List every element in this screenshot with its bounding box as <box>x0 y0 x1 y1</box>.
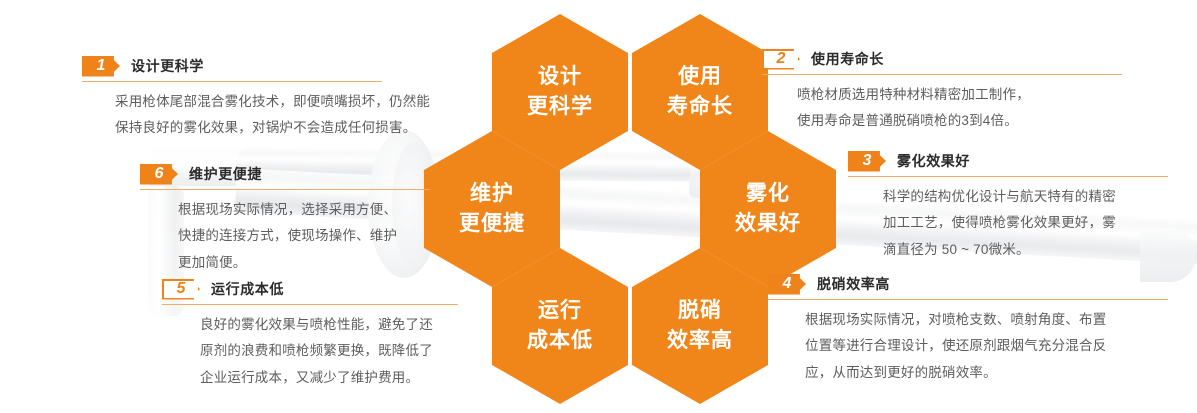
hexagon-lifespan-line1: 使用 <box>678 62 722 92</box>
feature-2-header: 2 使用寿命长 <box>762 48 1122 70</box>
feature-6-divider <box>140 189 430 190</box>
infographic-stage: 设计 更科学 使用 寿命长 维护 更便捷 雾化 效果好 运行 成本低 脱硝 效率… <box>0 0 1197 413</box>
feature-6-body: 根据现场实际情况，选择采用方便、 快捷的连接方式，使现场操作、维护 更加简便。 <box>140 197 430 276</box>
feature-5-line-3: 企业运行成本，又减少了维护费用。 <box>200 365 462 391</box>
feature-3-body: 科学的结构优化设计与航天特有的精密 加工工艺，使得喷枪雾化效果更好，雾 滴直径为… <box>848 184 1168 263</box>
feature-5-line-2: 原剂的浪费和喷枪频繁更换，既降低了 <box>200 338 462 364</box>
feature-block-5: 5 运行成本低 良好的雾化效果与喷枪性能，避免了还 原剂的浪费和喷枪频繁更换，既… <box>162 278 462 391</box>
hexagon-atomization-line1: 雾化 <box>746 179 790 209</box>
feature-1-number-badge: 1 <box>82 56 120 77</box>
hexagon-lifespan-line2: 寿命长 <box>667 92 733 122</box>
feature-5-header: 5 运行成本低 <box>162 278 462 300</box>
feature-block-3: 3 雾化效果好 科学的结构优化设计与航天特有的精密 加工工艺，使得喷枪雾化效果更… <box>848 150 1168 263</box>
feature-6-title: 维护更便捷 <box>189 164 262 184</box>
feature-5-number-badge: 5 <box>162 279 200 300</box>
feature-2-number-badge: 2 <box>762 49 800 70</box>
feature-3-line-1: 科学的结构优化设计与航天特有的精密 <box>883 184 1168 210</box>
feature-5-body: 良好的雾化效果与喷枪性能，避免了还 原剂的浪费和喷枪频繁更换，既降低了 企业运行… <box>162 312 462 391</box>
feature-4-divider <box>768 299 1168 300</box>
feature-3-title: 雾化效果好 <box>897 151 970 171</box>
feature-1-line-2: 保持良好的雾化效果，对锅炉不会造成任何损害。 <box>115 115 412 141</box>
feature-1-body: 采用枪体尾部混合雾化技术，即便喷嘴损坏，仍然能 保持良好的雾化效果，对锅炉不会造… <box>82 89 412 142</box>
feature-6-number-badge: 6 <box>140 164 178 185</box>
hexagon-design-line1: 设计 <box>538 62 582 92</box>
hexagon-cost-line1: 运行 <box>538 296 582 326</box>
feature-6-line-1: 根据现场实际情况，选择采用方便、 <box>178 197 430 223</box>
feature-1-divider <box>82 81 382 82</box>
feature-2-body: 喷枪材质选用特种材料精密加工制作， 使用寿命是普通脱硝喷枪的3到4倍。 <box>762 82 1122 135</box>
feature-4-line-1: 根据现场实际情况，对喷枪支数、喷射角度、布置 <box>805 307 1168 333</box>
feature-6-line-2: 快捷的连接方式，使现场操作、维护 <box>178 223 430 249</box>
feature-4-number-badge: 4 <box>768 274 806 295</box>
feature-5-divider <box>162 304 458 305</box>
hexagon-maintenance-line1: 维护 <box>470 179 514 209</box>
feature-3-line-3: 滴直径为 50 ~ 70微米。 <box>883 237 1168 263</box>
feature-3-header: 3 雾化效果好 <box>848 150 1168 172</box>
feature-4-body: 根据现场实际情况，对喷枪支数、喷射角度、布置 位置等进行合理设计，使还原剂跟烟气… <box>768 307 1168 386</box>
feature-block-6: 6 维护更便捷 根据现场实际情况，选择采用方便、 快捷的连接方式，使现场操作、维… <box>140 163 430 276</box>
feature-block-2: 2 使用寿命长 喷枪材质选用特种材料精密加工制作， 使用寿命是普通脱硝喷枪的3到… <box>762 48 1122 135</box>
hexagon-atomization-line2: 效果好 <box>735 209 801 239</box>
feature-2-line-1: 喷枪材质选用特种材料精密加工制作， <box>797 82 1122 108</box>
hexagon-denitration-line2: 效率高 <box>667 326 733 356</box>
feature-2-line-2: 使用寿命是普通脱硝喷枪的3到4倍。 <box>797 108 1122 134</box>
feature-3-divider <box>848 176 1168 177</box>
feature-2-title: 使用寿命长 <box>811 49 884 69</box>
feature-4-line-3: 应，从而达到更好的脱硝效率。 <box>805 360 1168 386</box>
feature-2-divider <box>762 74 1122 75</box>
feature-5-line-1: 良好的雾化效果与喷枪性能，避免了还 <box>200 312 462 338</box>
hexagon-design-line2: 更科学 <box>527 92 593 122</box>
feature-5-title: 运行成本低 <box>211 279 284 299</box>
feature-4-title: 脱硝效率高 <box>817 274 890 294</box>
feature-4-header: 4 脱硝效率高 <box>768 273 1168 295</box>
feature-1-header: 1 设计更科学 <box>82 55 412 77</box>
feature-1-line-1: 采用枪体尾部混合雾化技术，即便喷嘴损坏，仍然能 <box>115 89 412 115</box>
feature-3-number-badge: 3 <box>848 151 886 172</box>
hexagon-cost-line2: 成本低 <box>527 326 593 356</box>
hexagon-denitration-line1: 脱硝 <box>678 296 722 326</box>
feature-6-header: 6 维护更便捷 <box>140 163 430 185</box>
feature-4-line-2: 位置等进行合理设计，使还原剂跟烟气充分混合反 <box>805 333 1168 359</box>
feature-block-1: 1 设计更科学 采用枪体尾部混合雾化技术，即便喷嘴损坏，仍然能 保持良好的雾化效… <box>82 55 412 142</box>
feature-block-4: 4 脱硝效率高 根据现场实际情况，对喷枪支数、喷射角度、布置 位置等进行合理设计… <box>768 273 1168 386</box>
hexagon-maintenance-line2: 更便捷 <box>459 209 525 239</box>
feature-1-title: 设计更科学 <box>131 56 204 76</box>
feature-6-line-3: 更加简便。 <box>178 250 430 276</box>
feature-3-line-2: 加工工艺，使得喷枪雾化效果更好，雾 <box>883 210 1168 236</box>
